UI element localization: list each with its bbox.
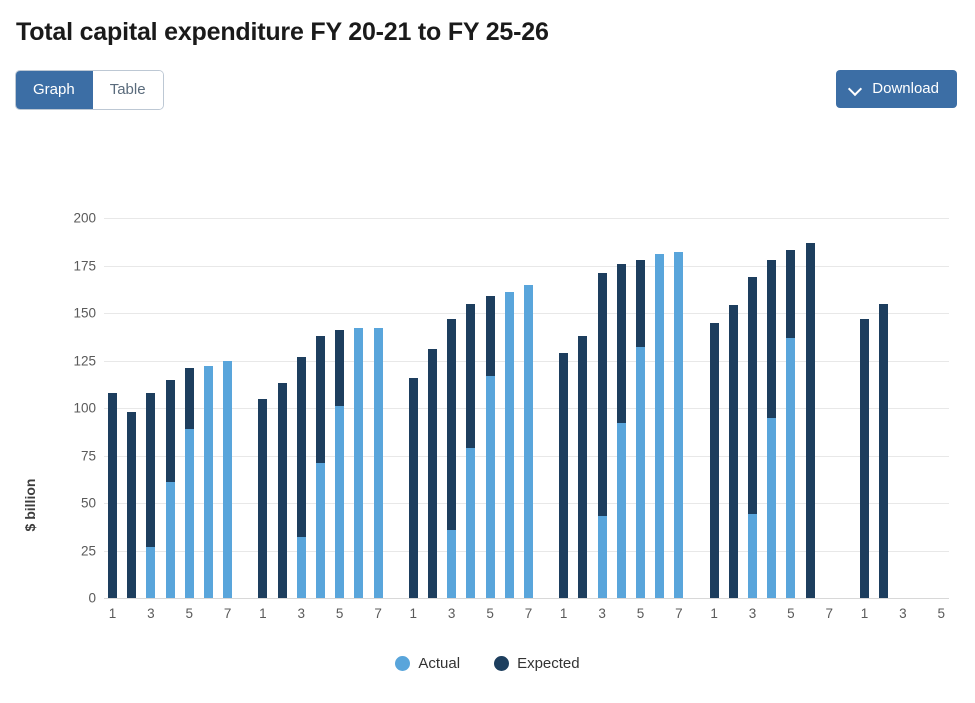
x-tick-label: 5: [336, 606, 344, 621]
x-tick-label: 1: [710, 606, 718, 621]
bar-segment-expected: [578, 336, 587, 598]
bar[interactable]: [297, 357, 306, 598]
y-tick-label: 100: [52, 401, 96, 416]
bar[interactable]: [655, 254, 664, 598]
bar-segment-expected: [806, 243, 815, 598]
y-tick-label: 25: [52, 543, 96, 558]
x-tick-label: 3: [899, 606, 907, 621]
x-tick-label: 1: [109, 606, 117, 621]
chart-area: $ billion 0255075100125150175200 1357135…: [0, 150, 975, 703]
bar-segment-actual: [674, 252, 683, 598]
bar[interactable]: [316, 336, 325, 598]
bar[interactable]: [146, 393, 155, 598]
tab-graph[interactable]: Graph: [16, 71, 93, 109]
bar-segment-actual: [636, 347, 645, 598]
bar[interactable]: [428, 349, 437, 598]
bar[interactable]: [374, 328, 383, 598]
bar-segment-expected: [127, 412, 136, 598]
bar[interactable]: [674, 252, 683, 598]
bar[interactable]: [127, 412, 136, 598]
bar[interactable]: [748, 277, 757, 598]
bar-segment-actual: [786, 338, 795, 598]
bar-segment-actual: [316, 463, 325, 598]
capital-expenditure-chart-page: Total capital expenditure FY 20-21 to FY…: [0, 0, 975, 703]
bars-layer: [104, 150, 949, 598]
legend-swatch-actual: [395, 656, 410, 671]
x-tick-label: 5: [186, 606, 194, 621]
bar[interactable]: [524, 285, 533, 599]
legend-label: Expected: [517, 655, 580, 672]
bar-segment-actual: [146, 547, 155, 598]
legend-item[interactable]: Expected: [494, 655, 580, 672]
bar-segment-actual: [335, 406, 344, 598]
bar-segment-actual: [748, 514, 757, 598]
x-tick-label: 5: [486, 606, 494, 621]
bar[interactable]: [204, 366, 213, 598]
bar[interactable]: [767, 260, 776, 598]
x-tick-label: 3: [448, 606, 456, 621]
bar[interactable]: [710, 323, 719, 599]
bar-segment-actual: [524, 285, 533, 599]
chevron-down-icon: [850, 83, 862, 95]
plot-region: 135713571357135713571357: [104, 150, 949, 703]
x-tick-label: 7: [224, 606, 232, 621]
bar[interactable]: [278, 383, 287, 598]
bar[interactable]: [258, 399, 267, 599]
bar-segment-expected: [729, 305, 738, 598]
tab-table[interactable]: Table: [93, 71, 163, 109]
bar[interactable]: [729, 305, 738, 598]
gridline: [104, 598, 949, 599]
bar[interactable]: [486, 296, 495, 598]
legend-swatch-expected: [494, 656, 509, 671]
bar[interactable]: [559, 353, 568, 598]
x-tick-label: 3: [147, 606, 155, 621]
chart-legend: ActualExpected: [0, 655, 975, 672]
x-tick-label: 1: [560, 606, 568, 621]
bar-segment-expected: [860, 319, 869, 598]
x-tick-label: 3: [298, 606, 306, 621]
bar[interactable]: [447, 319, 456, 598]
bar-segment-expected: [409, 378, 418, 598]
bar-segment-expected: [278, 383, 287, 598]
bar[interactable]: [505, 292, 514, 598]
legend-label: Actual: [418, 655, 460, 672]
bar[interactable]: [354, 328, 363, 598]
y-tick-label: 50: [52, 496, 96, 511]
y-axis-ticks: 0255075100125150175200: [52, 150, 96, 703]
y-tick-label: 150: [52, 306, 96, 321]
page-title: Total capital expenditure FY 20-21 to FY…: [16, 18, 549, 47]
x-tick-label: 3: [598, 606, 606, 621]
bar[interactable]: [636, 260, 645, 598]
view-toggle-group[interactable]: Graph Table: [16, 71, 163, 109]
bar-segment-actual: [223, 361, 232, 599]
bar[interactable]: [598, 273, 607, 598]
download-button-label: Download: [872, 81, 939, 96]
bar-segment-actual: [447, 530, 456, 598]
bar-segment-expected: [428, 349, 437, 598]
x-tick-label: 5: [938, 606, 946, 621]
download-button[interactable]: Download: [836, 70, 957, 108]
x-tick-label: 7: [525, 606, 533, 621]
bar-segment-actual: [617, 423, 626, 598]
y-tick-label: 0: [52, 591, 96, 606]
bar[interactable]: [617, 264, 626, 598]
y-tick-label: 125: [52, 353, 96, 368]
x-tick-label: 7: [675, 606, 683, 621]
x-tick-label: 1: [410, 606, 418, 621]
bar-segment-expected: [879, 304, 888, 599]
x-tick-label: 5: [637, 606, 645, 621]
bar[interactable]: [223, 361, 232, 599]
bar-segment-actual: [185, 429, 194, 598]
bar-segment-actual: [767, 418, 776, 599]
bar-segment-expected: [710, 323, 719, 599]
bar[interactable]: [185, 368, 194, 598]
bar[interactable]: [409, 378, 418, 598]
bar-segment-actual: [505, 292, 514, 598]
bar-segment-actual: [166, 482, 175, 598]
bar-segment-expected: [258, 399, 267, 599]
bar-segment-actual: [374, 328, 383, 598]
legend-item[interactable]: Actual: [395, 655, 460, 672]
x-tick-label: 5: [787, 606, 795, 621]
bar[interactable]: [335, 330, 344, 598]
bar[interactable]: [466, 304, 475, 599]
bar-segment-actual: [354, 328, 363, 598]
y-tick-label: 200: [52, 211, 96, 226]
bar[interactable]: [786, 250, 795, 598]
bar[interactable]: [166, 380, 175, 599]
bar[interactable]: [108, 393, 117, 598]
bar-segment-actual: [655, 254, 664, 598]
y-tick-label: 175: [52, 258, 96, 273]
y-axis-title: $ billion: [22, 479, 38, 532]
bar[interactable]: [578, 336, 587, 598]
bar-segment-actual: [486, 376, 495, 598]
bar-segment-actual: [598, 516, 607, 598]
bar-segment-expected: [108, 393, 117, 598]
x-tick-label: 1: [259, 606, 267, 621]
x-tick-label: 3: [749, 606, 757, 621]
bar-segment-actual: [297, 537, 306, 598]
bar[interactable]: [879, 304, 888, 599]
x-tick-label: 7: [826, 606, 834, 621]
x-tick-label: 7: [374, 606, 382, 621]
bar-segment-expected: [559, 353, 568, 598]
bar-segment-actual: [204, 366, 213, 598]
bar[interactable]: [806, 243, 815, 598]
y-tick-label: 75: [52, 448, 96, 463]
x-tick-label: 1: [861, 606, 869, 621]
bar[interactable]: [860, 319, 869, 598]
bar-segment-actual: [466, 448, 475, 598]
